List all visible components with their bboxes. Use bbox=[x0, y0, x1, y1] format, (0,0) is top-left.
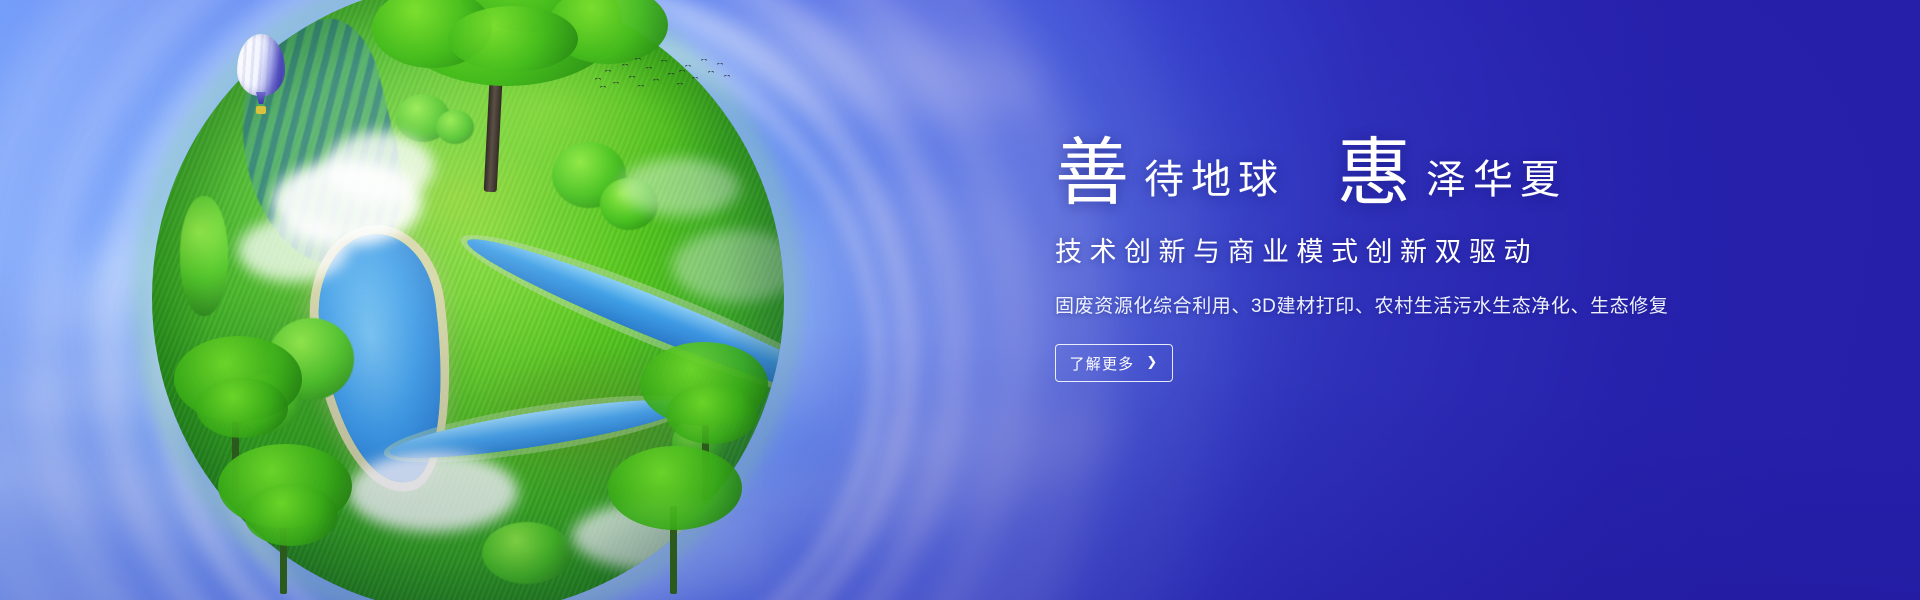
headline-char-shan: 善 bbox=[1055, 136, 1130, 210]
side-tree-left-lower bbox=[210, 440, 360, 600]
hero-headline: 善 待地球 惠 泽华夏 bbox=[1055, 132, 1755, 206]
eco-hero-banner: 善 待地球 惠 泽华夏 技术创新与商业模式创新双驱动 固废资源化综合利用、3D建… bbox=[0, 0, 1920, 600]
side-tree-right-lower bbox=[600, 444, 750, 600]
learn-more-label: 了解更多 bbox=[1070, 353, 1135, 374]
headline-char-hui: 惠 bbox=[1337, 136, 1412, 210]
headline-ze-hua-xia: 泽华夏 bbox=[1412, 160, 1567, 200]
bird-flock-icon bbox=[592, 52, 732, 98]
hot-air-balloon-icon bbox=[237, 34, 285, 120]
balloon-neck bbox=[256, 92, 266, 104]
tree-canopy bbox=[448, 6, 578, 72]
headline-dai-di-qiu: 待地球 bbox=[1130, 160, 1285, 200]
hero-subtitle: 技术创新与商业模式创新双驱动 bbox=[1055, 230, 1755, 269]
balloon-envelope bbox=[237, 34, 285, 96]
hero-text-block: 善 待地球 惠 泽华夏 技术创新与商业模式创新双驱动 固废资源化综合利用、3D建… bbox=[1055, 132, 1755, 382]
chevron-right-icon: ❯ bbox=[1146, 354, 1158, 370]
learn-more-button[interactable]: 了解更多 ❯ bbox=[1055, 344, 1173, 382]
hero-description: 固废资源化综合利用、3D建材打印、农村生活污水生态净化、生态修复 bbox=[1055, 291, 1755, 318]
balloon-basket bbox=[256, 106, 266, 114]
